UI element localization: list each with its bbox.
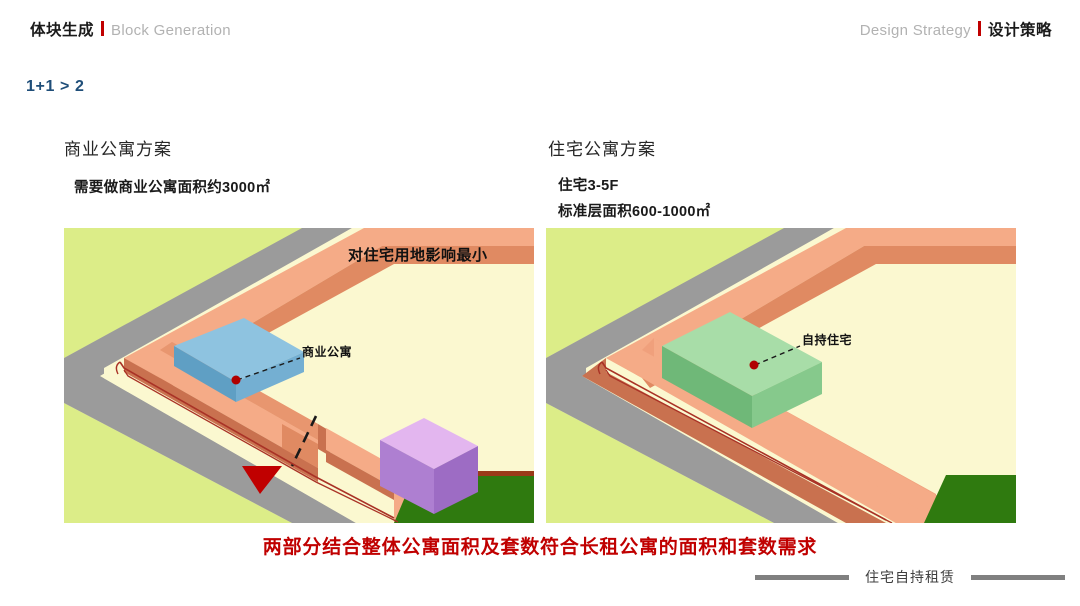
header-right-title-cn: 设计策略 — [988, 18, 1052, 40]
scheme-right-note-2: 标准层面积600-1000㎡ — [546, 200, 1018, 221]
header-left-title-cn: 体块生成 — [30, 18, 94, 40]
footer-label: 住宅自持租赁 — [865, 567, 955, 587]
footer-rule-right — [971, 575, 1065, 580]
callout-marker-dot — [232, 376, 241, 385]
scheme-left-note-1: 需要做商业公寓面积约3000㎡ — [62, 176, 534, 197]
header-left-title-en: Block Generation — [111, 22, 231, 39]
scheme-right-text: 住宅公寓方案 住宅3-5F 标准层面积600-1000㎡ — [546, 135, 1018, 226]
diagram-residential-apartment: 自持住宅 — [546, 228, 1016, 523]
header-left-accent-bar — [101, 21, 104, 36]
callout-label-commercial: 商业公寓 — [302, 344, 352, 359]
scheme-right-heading: 住宅公寓方案 — [546, 135, 1018, 160]
slide-caption: 两部分结合整体公寓面积及套数符合长租公寓的面积和套数需求 — [0, 532, 1080, 559]
callout-marker-dot — [750, 361, 759, 370]
scheme-right-note-1: 住宅3-5F — [546, 174, 1018, 195]
header-left-title: 体块生成 Block Generation — [30, 18, 231, 40]
scheme-left-text: 商业公寓方案 需要做商业公寓面积约3000㎡ — [62, 135, 534, 203]
header-right-title: Design Strategy 设计策略 — [860, 18, 1052, 40]
header-right-title-en: Design Strategy — [860, 22, 971, 39]
diagram-overlay-note-left: 对住宅用地影响最小 — [348, 246, 488, 264]
callout-label-residential: 自持住宅 — [802, 332, 852, 347]
header-right-accent-bar — [978, 21, 981, 36]
slide-header: 体块生成 Block Generation Design Strategy 设计… — [0, 18, 1080, 48]
footer-rule-left — [755, 575, 849, 580]
section-title: 1+1 > 2 — [26, 78, 84, 96]
slide-footer: 住宅自持租赁 — [755, 562, 1065, 592]
scheme-left-heading: 商业公寓方案 — [62, 135, 534, 160]
diagram-commercial-apartment: 商业公寓 对住宅用地影响最小 — [64, 228, 534, 523]
